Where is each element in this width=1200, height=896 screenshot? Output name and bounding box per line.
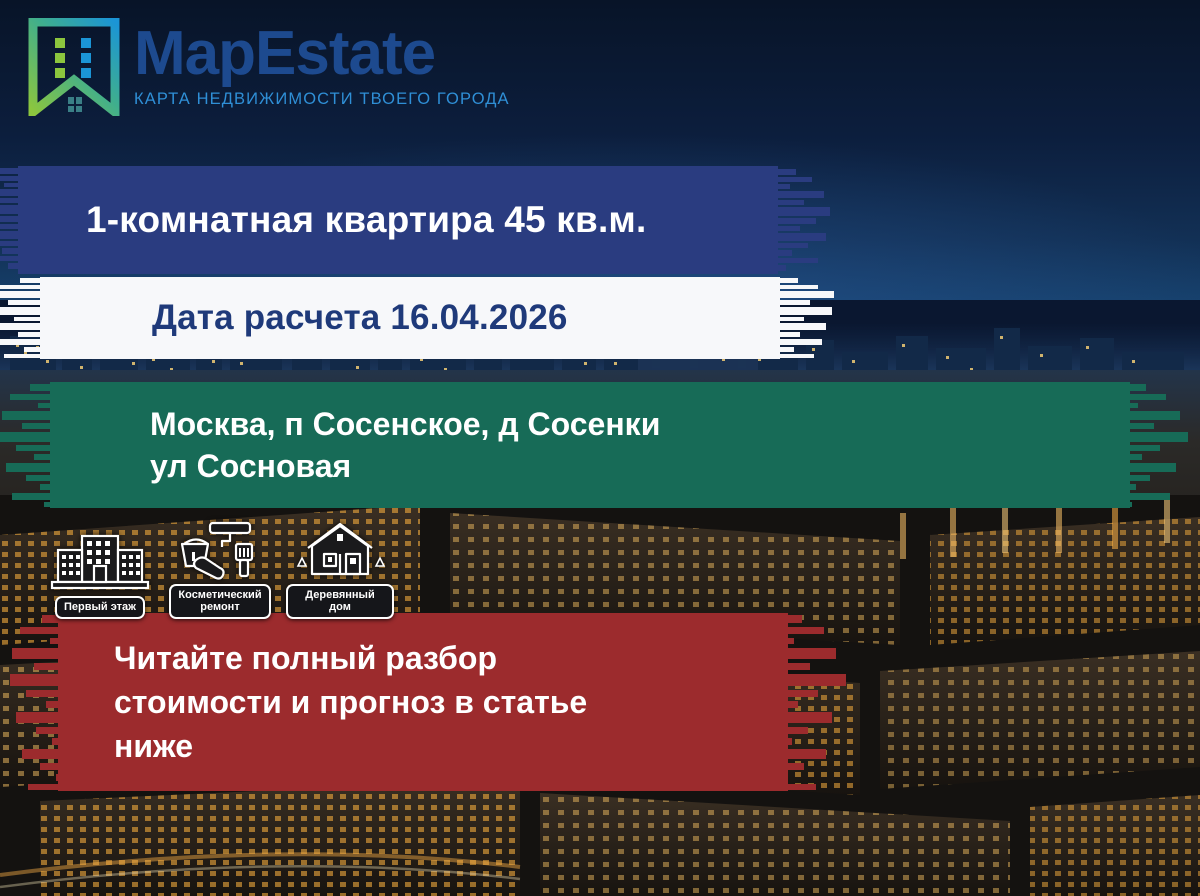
wooden-house-icon xyxy=(290,520,390,582)
property-title-banner: 1-комнатная квартира 45 кв.м. xyxy=(18,166,778,274)
real-estate-promo-poster: MapEstate КАРТА НЕДВИЖИМОСТИ ТВОЕГО ГОРО… xyxy=(0,0,1200,896)
badge-wooden-house-label: Деревянный дом xyxy=(286,584,394,619)
property-feature-badges: Первый этаж xyxy=(46,520,394,619)
logo-tagline: КАРТА НЕДВИЖИМОСТИ ТВОЕГО ГОРОДА xyxy=(134,90,510,109)
paint-roller-bucket-brush-icon xyxy=(170,520,270,582)
badge-wooden-house[interactable]: Деревянный дом xyxy=(286,520,394,619)
cta-line-2: стоимости и прогноз в статье xyxy=(58,680,788,724)
calculation-date-banner: Дата расчета 16.04.2026 xyxy=(40,277,780,359)
calculation-date-text: Дата расчета 16.04.2026 xyxy=(40,296,780,341)
badge-first-floor[interactable]: Первый этаж xyxy=(46,532,154,618)
logo-text: MapEstate КАРТА НЕДВИЖИМОСТИ ТВОЕГО ГОРО… xyxy=(134,25,510,109)
mapestate-bookmark-building-logo-icon xyxy=(28,18,120,116)
address-line-2: ул Сосновая xyxy=(50,445,1130,487)
badge-cosmetic-renovation[interactable]: Косметический ремонт xyxy=(166,520,274,619)
property-address-banner: Москва, п Сосенское, д Сосенки ул Соснов… xyxy=(50,382,1130,508)
brand-logo[interactable]: MapEstate КАРТА НЕДВИЖИМОСТИ ТВОЕГО ГОРО… xyxy=(28,18,510,116)
cta-line-3: ниже xyxy=(58,724,788,768)
property-title-text: 1-комнатная квартира 45 кв.м. xyxy=(18,196,778,243)
badge-first-floor-label: Первый этаж xyxy=(55,596,145,618)
badge-cosmetic-renovation-label: Косметический ремонт xyxy=(169,584,270,619)
address-line-1: Москва, п Сосенское, д Сосенки xyxy=(50,403,1130,445)
apartment-building-icon xyxy=(50,532,150,594)
call-to-action-banner: Читайте полный разбор стоимости и прогно… xyxy=(58,613,788,791)
cta-line-1: Читайте полный разбор xyxy=(58,636,788,680)
logo-title: MapEstate xyxy=(134,25,510,84)
